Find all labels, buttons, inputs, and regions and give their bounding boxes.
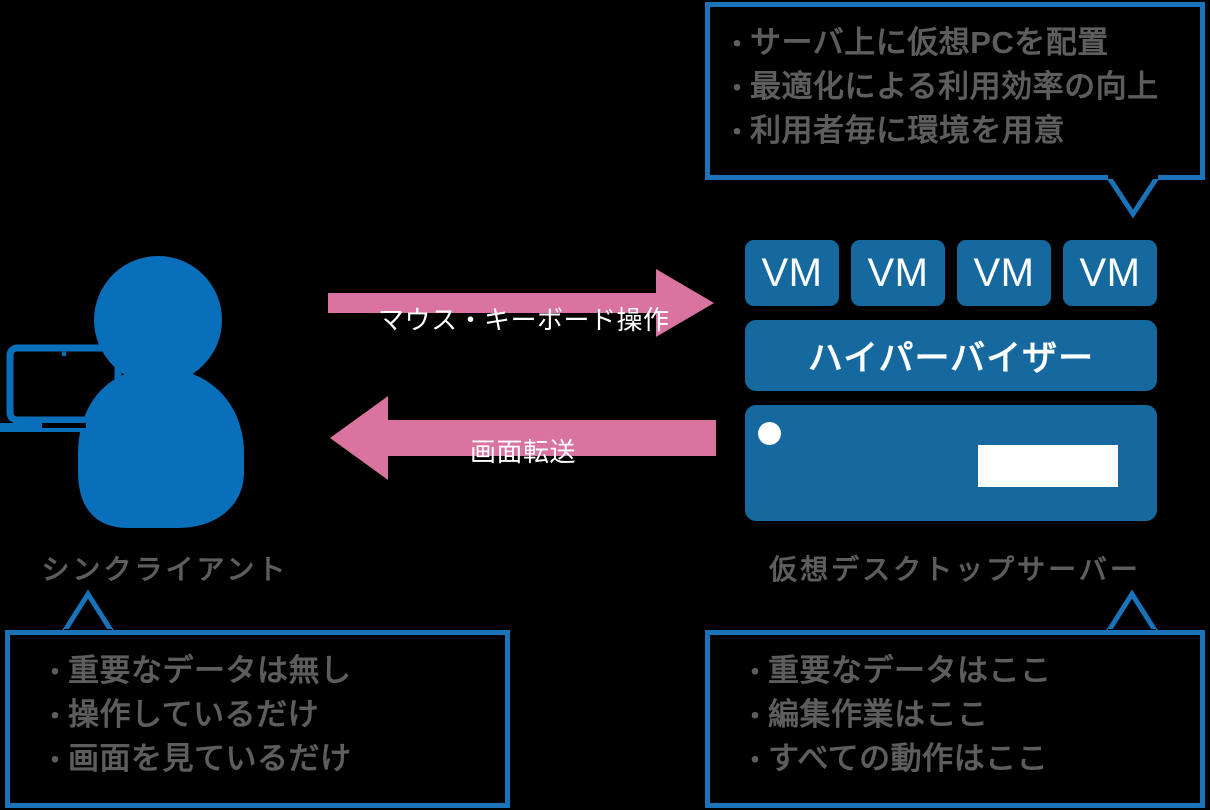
bullet-icon: ・ <box>42 742 68 779</box>
server-label: 仮想デスクトップサーバー <box>700 548 1210 588</box>
bullet-icon: ・ <box>742 742 768 779</box>
bullet-icon: ・ <box>724 26 750 63</box>
callout-bottom-left-item-3-text: 画面を見ているだけ <box>68 741 352 776</box>
callout-top-item-1-text: サーバ上に仮想PCを配置 <box>750 25 1109 60</box>
callout-bottom-right-item-1: ・重要なデータはここ <box>742 649 1200 693</box>
vm-box-3: VM <box>957 240 1051 306</box>
diagram-canvas: ・サーバ上に仮想PCを配置 ・最適化による利用効率の向上 ・利用者毎に環境を用意… <box>0 0 1210 810</box>
vm-box-2: VM <box>851 240 945 306</box>
callout-top-item-3-text: 利用者毎に環境を用意 <box>750 113 1065 148</box>
callout-bottom-right-tail-icon <box>1102 588 1162 636</box>
callout-bottom-right-list: ・重要なデータはここ ・編集作業はここ ・すべての動作はここ <box>742 649 1200 781</box>
callout-bottom-right-item-1-text: 重要なデータはここ <box>768 653 1052 688</box>
bullet-icon: ・ <box>742 698 768 735</box>
callout-bottom-right-item-2: ・編集作業はここ <box>742 693 1200 737</box>
arrow-to-server-label: マウス・キーボード操作 <box>378 300 670 337</box>
hypervisor-bar: ハイパーバイザー <box>745 320 1157 391</box>
hypervisor-label: ハイパーバイザー <box>808 330 1094 381</box>
vm-box-3-label: VM <box>974 251 1035 296</box>
callout-top-item-2: ・最適化による利用効率の向上 <box>724 65 1200 109</box>
arrow-to-client-label: 画面転送 <box>470 432 576 469</box>
callout-top-item-2-text: 最適化による利用効率の向上 <box>750 69 1159 104</box>
bullet-icon: ・ <box>724 114 750 151</box>
person-body-icon <box>78 368 244 528</box>
callout-bottom-left-item-3: ・画面を見ているだけ <box>42 737 505 781</box>
callout-top-list: ・サーバ上に仮想PCを配置 ・最適化による利用効率の向上 ・利用者毎に環境を用意 <box>724 21 1200 153</box>
vm-box-4-label: VM <box>1080 251 1141 296</box>
callout-bottom-left-item-1-text: 重要なデータは無し <box>68 653 352 688</box>
callout-bottom-right: ・重要なデータはここ ・編集作業はここ ・すべての動作はここ <box>705 630 1205 808</box>
callout-bottom-left-list: ・重要なデータは無し ・操作しているだけ ・画面を見ているだけ <box>42 649 505 781</box>
server-drive-slot-icon <box>978 445 1118 487</box>
vm-box-4: VM <box>1063 240 1157 306</box>
callout-top-item-1: ・サーバ上に仮想PCを配置 <box>724 21 1200 65</box>
callout-bottom-right-item-3-text: すべての動作はここ <box>768 741 1048 776</box>
vm-box-2-label: VM <box>868 251 929 296</box>
callout-bottom-left-item-2-text: 操作しているだけ <box>68 697 319 732</box>
laptop-hinge-icon <box>42 423 86 428</box>
bullet-icon: ・ <box>742 654 768 691</box>
thin-client-icon-group <box>0 240 300 540</box>
bullet-icon: ・ <box>42 654 68 691</box>
vm-box-1-label: VM <box>762 251 823 296</box>
bullet-icon: ・ <box>42 698 68 735</box>
server-chassis <box>745 405 1157 521</box>
client-label: シンクライアント <box>0 548 330 588</box>
callout-bottom-left-tail-icon <box>58 588 118 636</box>
person-head-icon <box>94 256 222 384</box>
server-power-led-icon <box>758 422 781 445</box>
vm-box-1: VM <box>745 240 839 306</box>
laptop-camera-icon <box>62 352 67 357</box>
callout-bottom-left: ・重要なデータは無し ・操作しているだけ ・画面を見ているだけ <box>5 630 510 808</box>
callout-bottom-left-item-1: ・重要なデータは無し <box>42 649 505 693</box>
callout-bottom-left-item-2: ・操作しているだけ <box>42 693 505 737</box>
callout-top: ・サーバ上に仮想PCを配置 ・最適化による利用効率の向上 ・利用者毎に環境を用意 <box>705 2 1205 180</box>
callout-bottom-right-item-2-text: 編集作業はここ <box>768 697 989 732</box>
callout-top-item-3: ・利用者毎に環境を用意 <box>724 109 1200 153</box>
bullet-icon: ・ <box>724 70 750 107</box>
callout-bottom-right-item-3: ・すべての動作はここ <box>742 737 1200 781</box>
